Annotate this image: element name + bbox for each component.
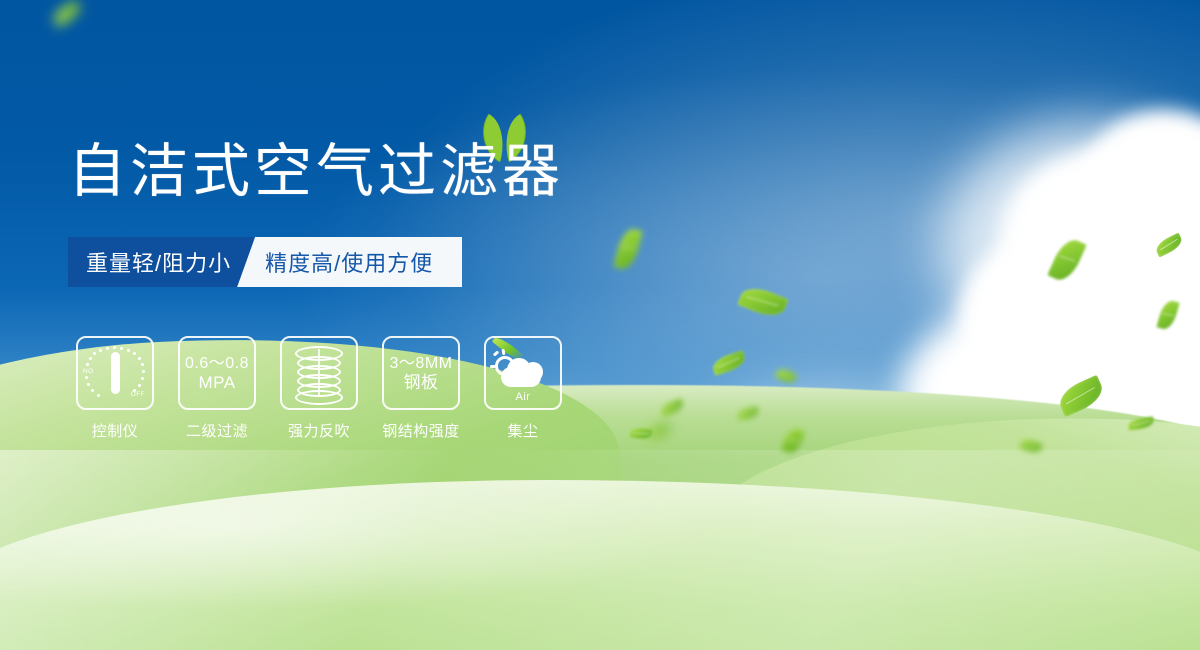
gauge-off-label: OFF [131,391,145,398]
hero-banner: 自洁式空气过滤器 重量轻/阻力小 精度高/使用方便 [0,0,1200,650]
pressure-text-icon: 0.6〜0.8 MPA [178,336,256,410]
steel-material: 钢板 [404,373,439,393]
pressure-value: 0.6〜0.8 [185,354,249,373]
feature-item-controller[interactable]: NO OFF 控制仪 [76,336,154,441]
gauge-no-label: NO [83,368,94,375]
feature-item-blowback[interactable]: 强力反吹 [280,336,358,441]
feature-label-dust: 集尘 [507,420,538,441]
air-label: Air [493,391,553,403]
feature-label-filter: 二级过滤 [186,420,248,441]
gauge-dial-icon: NO OFF [76,336,154,410]
subtitle-bar: 重量轻/阻力小 精度高/使用方便 [68,237,462,287]
steel-thickness: 3〜8MM [390,354,453,373]
feature-item-steel[interactable]: 3〜8MM 钢板 钢结构强度 [382,336,460,441]
feature-label-blowback: 强力反吹 [288,420,350,441]
feature-item-filter[interactable]: 0.6〜0.8 MPA 二级过滤 [178,336,256,441]
air-cloud-icon: Air [484,336,562,410]
subtitle-right: 精度高/使用方便 [237,237,462,287]
subtitle-left: 重量轻/阻力小 [68,237,253,287]
feature-label-controller: 控制仪 [92,420,139,441]
feature-item-dust[interactable]: Air 集尘 [484,336,562,441]
spiral-coil-icon [280,336,358,410]
pressure-unit: MPA [198,373,235,393]
feature-list: NO OFF 控制仪 0.6〜0.8 MPA 二级过滤 [76,336,562,441]
steel-plate-text-icon: 3〜8MM 钢板 [382,336,460,410]
feature-label-steel: 钢结构强度 [382,420,460,441]
page-title: 自洁式空气过滤器 [68,143,564,201]
